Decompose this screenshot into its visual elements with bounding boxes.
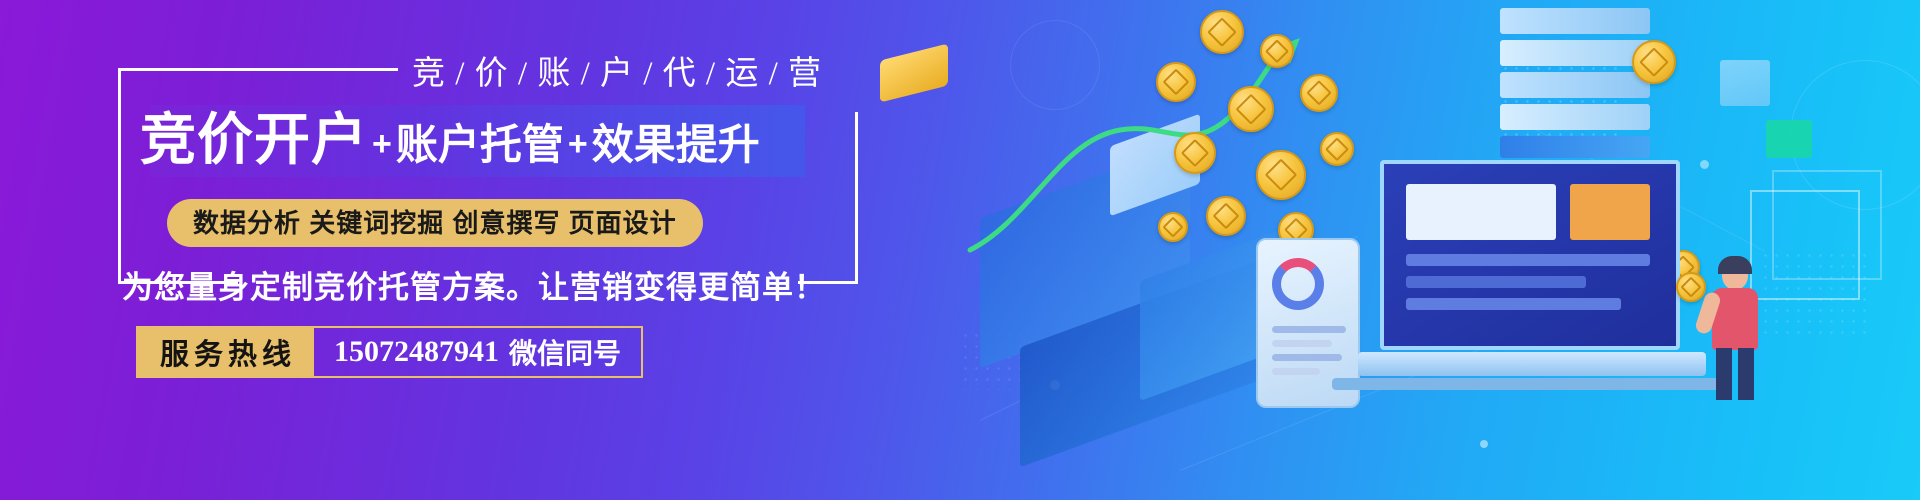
screen-line-2 — [1406, 276, 1586, 288]
server-layer-2 — [1500, 40, 1650, 66]
person-leg-left — [1716, 348, 1732, 400]
coin-3 — [1156, 62, 1196, 102]
coin-14 — [1632, 40, 1676, 84]
hotline-wechat-note: 微信同号 — [509, 332, 621, 372]
person-leg-right — [1738, 348, 1754, 400]
bracket-top-line — [118, 68, 398, 71]
coin-6 — [1174, 132, 1216, 174]
tagline: 竞 / 价 / 账 / 户 / 代 / 运 / 营 — [412, 46, 822, 94]
features-pill: 数据分析 关键词挖掘 创意撰写 页面设计 — [167, 199, 703, 247]
coin-5 — [1300, 74, 1338, 112]
coin-7 — [1256, 150, 1306, 200]
phone-line-3 — [1272, 354, 1342, 361]
subline: 为您量身定制竞价托管方案。让营销变得更简单！ — [122, 262, 826, 307]
headline-plus1: + — [368, 125, 396, 163]
server-base — [1500, 136, 1650, 158]
server-layer-1 — [1500, 8, 1650, 34]
screen-panel-accent — [1570, 184, 1650, 240]
marketing-banner: 竞 / 价 / 账 / 户 / 代 / 运 / 营 竞价开户+账户托管+效果提升… — [0, 0, 1920, 500]
hotline-bar[interactable]: 服务热线 15072487941 微信同号 — [136, 326, 643, 378]
phone-line-4 — [1272, 368, 1320, 375]
coin-2 — [1260, 34, 1294, 68]
screen-line-1 — [1406, 254, 1650, 266]
gold-bar — [880, 44, 948, 103]
headline: 竞价开户+账户托管+效果提升 — [140, 104, 760, 191]
coin-8 — [1320, 132, 1354, 166]
screen-panel-1 — [1406, 184, 1556, 240]
cube-outline-back — [1772, 170, 1882, 280]
server-layer-4 — [1500, 104, 1650, 130]
phone-line-1 — [1272, 326, 1346, 333]
headline-plus2: + — [564, 125, 592, 163]
coin-9 — [1206, 196, 1246, 236]
coin-in-hand — [1676, 272, 1706, 302]
coin-11 — [1158, 212, 1188, 242]
donut-chart-icon — [1272, 258, 1324, 310]
laptop-screen — [1380, 160, 1680, 350]
coin-1 — [1200, 10, 1244, 54]
hotline-label: 服务热线 — [138, 328, 314, 376]
coin-4 — [1228, 86, 1274, 132]
headline-part2: 账户托管 — [396, 121, 564, 168]
bracket-left-line — [118, 68, 121, 284]
pale-block — [1720, 60, 1770, 106]
green-block — [1766, 120, 1812, 158]
person-hair — [1718, 256, 1752, 274]
illustration — [960, 0, 1920, 500]
screen-line-3 — [1406, 298, 1621, 310]
hotline-phone-number[interactable]: 15072487941 — [334, 335, 499, 369]
server-layer-3 — [1500, 72, 1650, 98]
hotline-number-group[interactable]: 15072487941 微信同号 — [314, 328, 641, 376]
laptop-keyboard — [1358, 352, 1706, 376]
headline-part3: 效果提升 — [592, 121, 760, 168]
laptop-base-edge — [1332, 378, 1732, 390]
bracket-right-line — [855, 112, 858, 284]
phone-line-2 — [1272, 340, 1332, 347]
headline-part1: 竞价开户 — [140, 108, 368, 171]
